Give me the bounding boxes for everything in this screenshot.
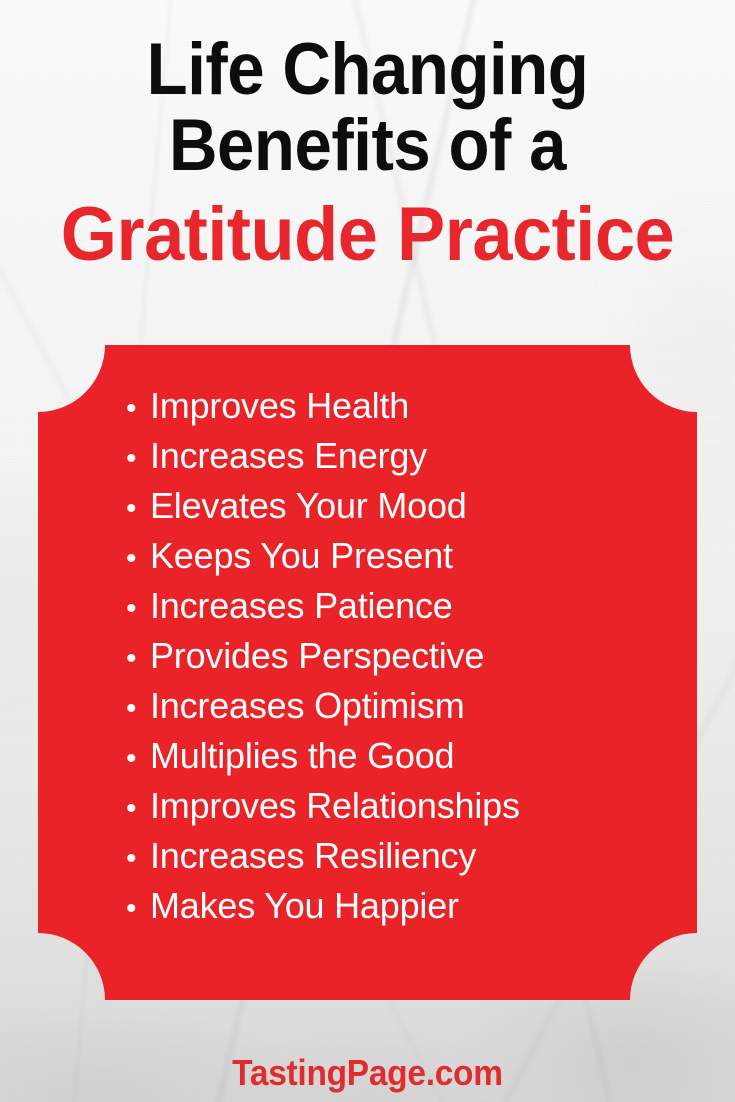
list-item: • Makes You Happier bbox=[126, 881, 686, 931]
bullet-icon: • bbox=[126, 434, 150, 484]
benefits-list: • Improves Health • Increases Energy • E… bbox=[126, 381, 686, 931]
list-item-label: Keeps You Present bbox=[150, 531, 453, 581]
list-item: • Multiplies the Good bbox=[126, 731, 686, 781]
footer: TastingPage.com bbox=[0, 1052, 735, 1094]
list-item-label: Improves Relationships bbox=[150, 781, 520, 831]
list-item: • Increases Patience bbox=[126, 581, 686, 631]
bullet-icon: • bbox=[126, 684, 150, 734]
title-line-2: Benefits of a bbox=[29, 110, 705, 182]
list-item-label: Elevates Your Mood bbox=[150, 481, 467, 531]
bullet-icon: • bbox=[126, 784, 150, 834]
list-item: • Increases Resiliency bbox=[126, 831, 686, 881]
list-item-label: Increases Patience bbox=[150, 581, 453, 631]
list-item: • Improves Health bbox=[126, 381, 686, 431]
bullet-icon: • bbox=[126, 584, 150, 634]
list-item-label: Makes You Happier bbox=[150, 881, 459, 931]
bullet-icon: • bbox=[126, 834, 150, 884]
site-url[interactable]: TastingPage.com bbox=[232, 1052, 503, 1094]
list-item-label: Improves Health bbox=[150, 381, 409, 431]
list-item-label: Provides Perspective bbox=[150, 631, 484, 681]
bullet-icon: • bbox=[126, 884, 150, 934]
bullet-icon: • bbox=[126, 384, 150, 434]
bullet-icon: • bbox=[126, 534, 150, 584]
list-item: • Keeps You Present bbox=[126, 531, 686, 581]
bullet-icon: • bbox=[126, 484, 150, 534]
list-item: • Increases Energy bbox=[126, 431, 686, 481]
title-line-3-accent: Gratitude Practice bbox=[18, 197, 716, 272]
list-item-label: Increases Resiliency bbox=[150, 831, 476, 881]
list-item-label: Increases Optimism bbox=[150, 681, 464, 731]
list-item: • Increases Optimism bbox=[126, 681, 686, 731]
list-item-label: Increases Energy bbox=[150, 431, 427, 481]
page-title: Life Changing Benefits of a Gratitude Pr… bbox=[0, 34, 735, 272]
list-item-label: Multiplies the Good bbox=[150, 731, 454, 781]
bullet-icon: • bbox=[126, 734, 150, 784]
list-item: • Provides Perspective bbox=[126, 631, 686, 681]
infographic-poster: Life Changing Benefits of a Gratitude Pr… bbox=[0, 0, 735, 1102]
benefits-card-content: • Improves Health • Increases Energy • E… bbox=[38, 345, 697, 1000]
benefits-card: • Improves Health • Increases Energy • E… bbox=[38, 345, 697, 1000]
title-line-1: Life Changing bbox=[29, 34, 705, 106]
list-item: • Improves Relationships bbox=[126, 781, 686, 831]
list-item: • Elevates Your Mood bbox=[126, 481, 686, 531]
bullet-icon: • bbox=[126, 634, 150, 684]
